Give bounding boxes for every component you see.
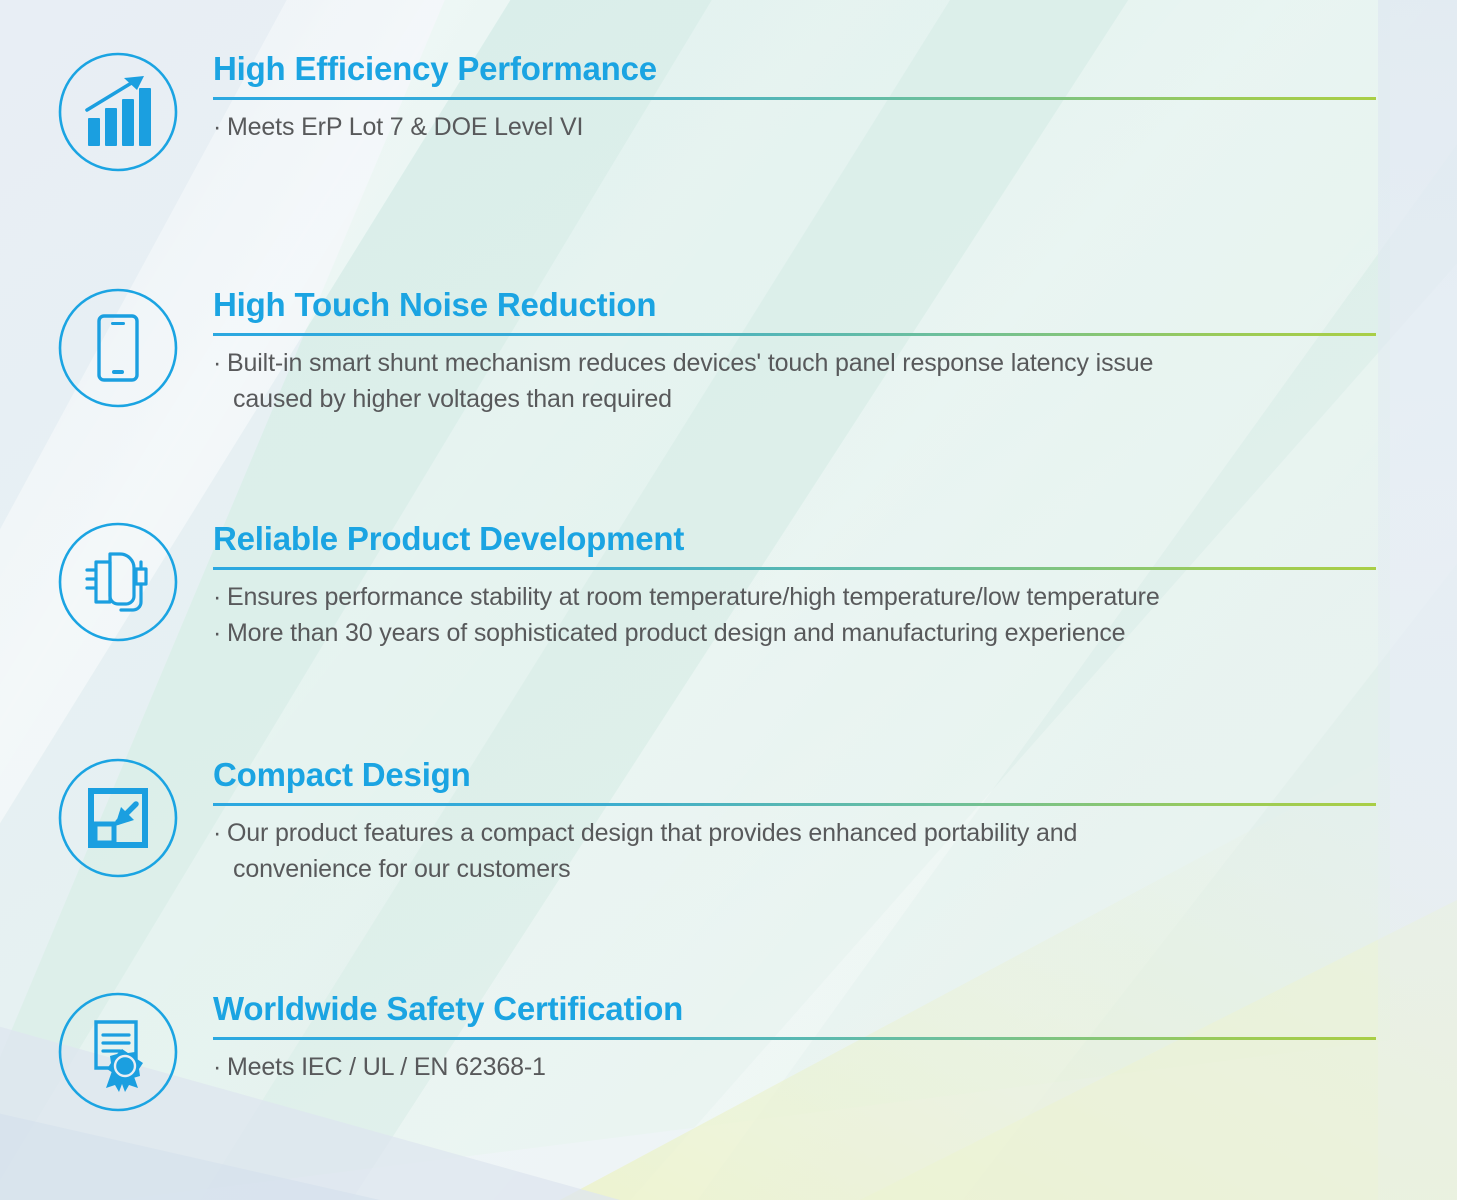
feature-body: ·Meets ErP Lot 7 & DOE Level VI (213, 110, 1378, 146)
feature-body: ·Ensures performance stability at room t… (213, 580, 1378, 651)
bullet-dot: · (213, 110, 227, 146)
feature-bullet-line: ·Built-in smart shunt mechanism reduces … (213, 346, 1378, 382)
feature-body: ·Meets IEC / UL / EN 62368-1 (213, 1050, 1378, 1086)
feature-body: ·Our product features a compact design t… (213, 816, 1378, 887)
bullet-dot: · (213, 580, 227, 616)
feature-bullet-line: ·Our product features a compact design t… (213, 816, 1378, 852)
feature-divider (213, 803, 1376, 806)
feature-bullet-text: Our product features a compact design th… (227, 819, 1077, 847)
feature-bullet-line: ·Meets ErP Lot 7 & DOE Level VI (213, 110, 1378, 146)
feature-title: Compact Design (213, 758, 1378, 791)
compact-resize-icon (58, 758, 178, 878)
feature-bullet-text: Meets ErP Lot 7 & DOE Level VI (227, 113, 583, 141)
feature-bullet-text: Ensures performance stability at room te… (227, 583, 1160, 611)
feature-bullet-text: convenience for our customers (233, 855, 570, 883)
feature-divider (213, 567, 1376, 570)
feature-title: Reliable Product Development (213, 522, 1378, 555)
feature-body: ·Built-in smart shunt mechanism reduces … (213, 346, 1378, 417)
bullet-dot: · (213, 1050, 227, 1086)
feature-bullet-line: ·Ensures performance stability at room t… (213, 580, 1378, 616)
bullet-dot: · (213, 346, 227, 382)
feature-divider (213, 333, 1376, 336)
feature-bullet-text: caused by higher voltages than required (233, 385, 672, 413)
bar-chart-growth-icon (58, 52, 178, 172)
power-adapter-icon (58, 522, 178, 642)
smartphone-icon (58, 288, 178, 408)
feature-divider (213, 97, 1376, 100)
feature-bullet-line: caused by higher voltages than required (213, 382, 1378, 418)
certificate-seal-icon (58, 992, 178, 1112)
feature-title: High Efficiency Performance (213, 52, 1378, 85)
feature-bullet-line: ·Meets IEC / UL / EN 62368-1 (213, 1050, 1378, 1086)
feature-list: High Efficiency Performance ·Meets ErP L… (0, 0, 1457, 1200)
feature-bullet-line: ·More than 30 years of sophisticated pro… (213, 616, 1378, 652)
feature-bullet-line: convenience for our customers (213, 852, 1378, 888)
feature-divider (213, 1037, 1376, 1040)
feature-title: High Touch Noise Reduction (213, 288, 1378, 321)
bullet-dot: · (213, 816, 227, 852)
bullet-dot: · (213, 616, 227, 652)
feature-bullet-text: Meets IEC / UL / EN 62368-1 (227, 1053, 546, 1081)
feature-bullet-text: Built-in smart shunt mechanism reduces d… (227, 349, 1153, 377)
feature-title: Worldwide Safety Certification (213, 992, 1378, 1025)
feature-bullet-text: More than 30 years of sophisticated prod… (227, 619, 1125, 647)
